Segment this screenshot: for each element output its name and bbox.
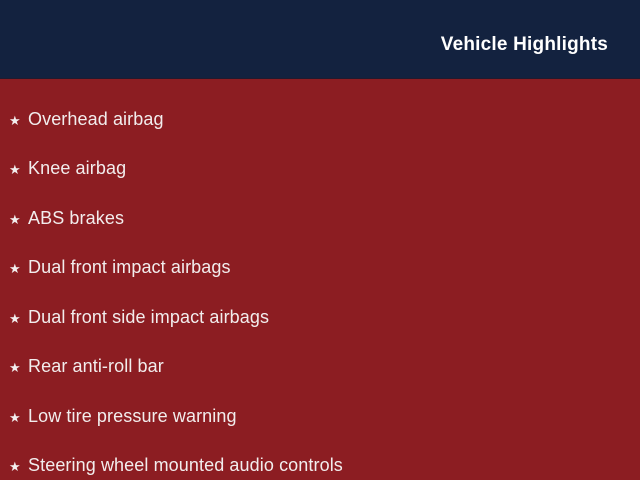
list-item: ★Low tire pressure warning xyxy=(0,392,640,442)
page-title: Vehicle Highlights xyxy=(441,35,608,54)
list-item-label: Dual front impact airbags xyxy=(28,257,231,279)
list-item-label: Dual front side impact airbags xyxy=(28,307,269,329)
star-icon: ★ xyxy=(9,312,28,325)
star-icon: ★ xyxy=(9,460,28,473)
list-item-label: ABS brakes xyxy=(28,208,124,230)
list-item-label: Steering wheel mounted audio controls xyxy=(28,455,343,477)
star-icon: ★ xyxy=(9,163,28,176)
list-item-label: Rear anti-roll bar xyxy=(28,356,164,378)
list-item-label: Knee airbag xyxy=(28,158,126,180)
list-item: ★ABS brakes xyxy=(0,194,640,244)
vehicle-highlights-panel: Vehicle Highlights ★Overhead airbag★Knee… xyxy=(0,0,640,480)
star-icon: ★ xyxy=(9,411,28,424)
list-item: ★Knee airbag xyxy=(0,145,640,195)
star-icon: ★ xyxy=(9,213,28,226)
list-item-label: Low tire pressure warning xyxy=(28,406,237,428)
star-icon: ★ xyxy=(9,361,28,374)
list-item: ★Rear anti-roll bar xyxy=(0,343,640,393)
highlights-body: ★Overhead airbag★Knee airbag★ABS brakes★… xyxy=(0,79,640,480)
panel-header: Vehicle Highlights xyxy=(0,0,640,79)
highlights-list: ★Overhead airbag★Knee airbag★ABS brakes★… xyxy=(0,95,640,480)
list-item: ★Overhead airbag xyxy=(0,95,640,145)
list-item-label: Overhead airbag xyxy=(28,109,164,131)
star-icon: ★ xyxy=(9,114,28,127)
list-item: ★Dual front side impact airbags xyxy=(0,293,640,343)
list-item: ★Steering wheel mounted audio controls xyxy=(0,442,640,480)
list-item: ★Dual front impact airbags xyxy=(0,244,640,294)
star-icon: ★ xyxy=(9,262,28,275)
